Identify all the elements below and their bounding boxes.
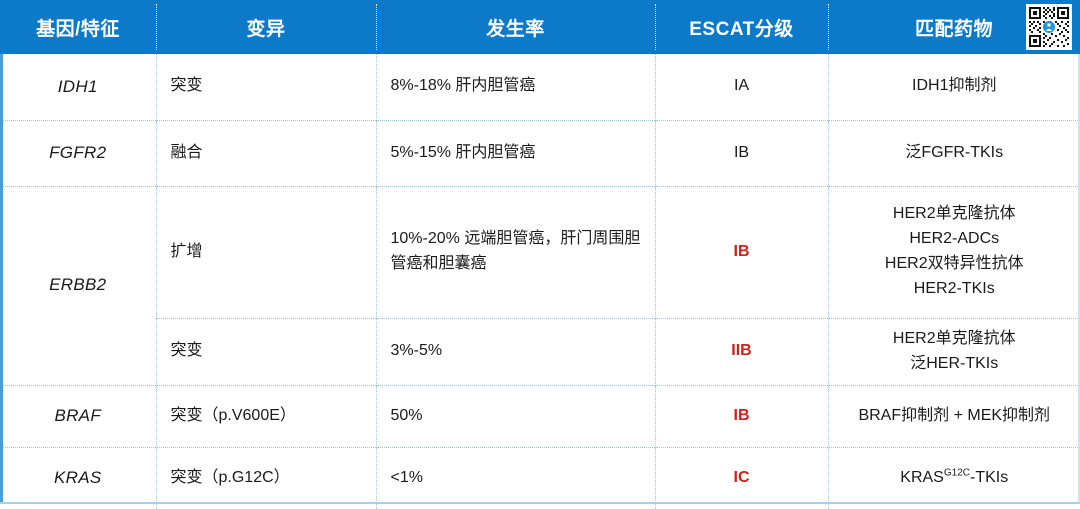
escat-grade-badge: IB: [734, 407, 750, 424]
cell-incidence: 8%-18% 肝内胆管癌: [376, 54, 655, 120]
table-screenshot: 基因/特征 变异 发生率 ESCAT分级 匹配药物 IDH1 突变 8%-18%…: [0, 0, 1080, 506]
drug-name: KRAS: [900, 469, 944, 486]
qr-code-graphic: [1027, 5, 1071, 49]
biomarker-table: 基因/特征 变异 发生率 ESCAT分级 匹配药物 IDH1 突变 8%-18%…: [0, 0, 1080, 509]
drug-superscript: G12C: [944, 468, 970, 479]
cell-gene: BRAF: [0, 385, 156, 447]
column-header-incidence: 发生率: [376, 0, 655, 54]
drug-item: HER2单克隆抗体: [843, 202, 1067, 227]
cell-drug: 泛FGFR-TKIs: [828, 120, 1080, 186]
cell-drug: IDH1抑制剂: [828, 54, 1080, 120]
table-left-border: [0, 54, 3, 503]
table-row: 突变 3%-5% IIB HER2单克隆抗体 泛HER-TKIs: [0, 318, 1080, 385]
cell-gene: FGFR2: [0, 120, 156, 186]
table-body: IDH1 突变 8%-18% 肝内胆管癌 IA IDH1抑制剂 FGFR2 融合…: [0, 54, 1080, 509]
cell-escat: IB: [655, 385, 828, 447]
cell-incidence: <1%: [376, 447, 655, 509]
cell-variant: 突变: [156, 318, 376, 385]
drug-item: 泛HER-TKIs: [843, 352, 1067, 377]
cell-incidence: 10%-20% 远端胆管癌，肝门周围胆管癌和胆囊癌: [376, 186, 655, 318]
cell-drug: KRASG12C-TKIs: [828, 447, 1080, 509]
drug-suffix: -TKIs: [970, 469, 1008, 486]
table-row: KRAS 突变（p.G12C） <1% IC KRASG12C-TKIs: [0, 447, 1080, 509]
cell-variant: 扩增: [156, 186, 376, 318]
cell-variant: 融合: [156, 120, 376, 186]
cell-incidence: 3%-5%: [376, 318, 655, 385]
cell-escat: IIB: [655, 318, 828, 385]
cell-drug: HER2单克隆抗体 HER2-ADCs HER2双特异性抗体 HER2-TKIs: [828, 186, 1080, 318]
column-header-gene: 基因/特征: [0, 0, 156, 54]
cell-escat: IA: [655, 54, 828, 120]
cell-escat: IC: [655, 447, 828, 509]
escat-grade-badge: IC: [734, 469, 750, 486]
table-header-row: 基因/特征 变异 发生率 ESCAT分级 匹配药物: [0, 0, 1080, 54]
cell-escat: IB: [655, 186, 828, 318]
cell-drug: HER2单克隆抗体 泛HER-TKIs: [828, 318, 1080, 385]
cell-variant: 突变（p.G12C）: [156, 447, 376, 509]
cell-variant: 突变: [156, 54, 376, 120]
column-header-variant: 变异: [156, 0, 376, 54]
drug-item: HER2单克隆抗体: [843, 327, 1067, 352]
drug-item: HER2双特异性抗体: [843, 252, 1067, 277]
table-row: BRAF 突变（p.V600E） 50% IB BRAF抑制剂 + MEK抑制剂: [0, 385, 1080, 447]
table-bottom-border: [0, 502, 1080, 504]
qr-center-logo: [1043, 21, 1055, 33]
cell-incidence: 5%-15% 肝内胆管癌: [376, 120, 655, 186]
cell-variant: 突变（p.V600E）: [156, 385, 376, 447]
table-row: IDH1 突变 8%-18% 肝内胆管癌 IA IDH1抑制剂: [0, 54, 1080, 120]
drug-item: HER2-TKIs: [843, 277, 1067, 302]
cell-escat: IB: [655, 120, 828, 186]
cell-gene: KRAS: [0, 447, 156, 509]
table-row: ERBB2 扩增 10%-20% 远端胆管癌，肝门周围胆管癌和胆囊癌 IB HE…: [0, 186, 1080, 318]
cell-gene: ERBB2: [0, 186, 156, 385]
cell-gene: IDH1: [0, 54, 156, 120]
drug-item: HER2-ADCs: [843, 227, 1067, 252]
cell-drug: BRAF抑制剂 + MEK抑制剂: [828, 385, 1080, 447]
escat-grade-badge: IIB: [731, 342, 751, 359]
escat-grade-badge: IB: [734, 243, 750, 260]
cell-incidence: 50%: [376, 385, 655, 447]
column-header-escat: ESCAT分级: [655, 0, 828, 54]
qr-code-icon[interactable]: [1026, 4, 1072, 50]
table-row: FGFR2 融合 5%-15% 肝内胆管癌 IB 泛FGFR-TKIs: [0, 120, 1080, 186]
